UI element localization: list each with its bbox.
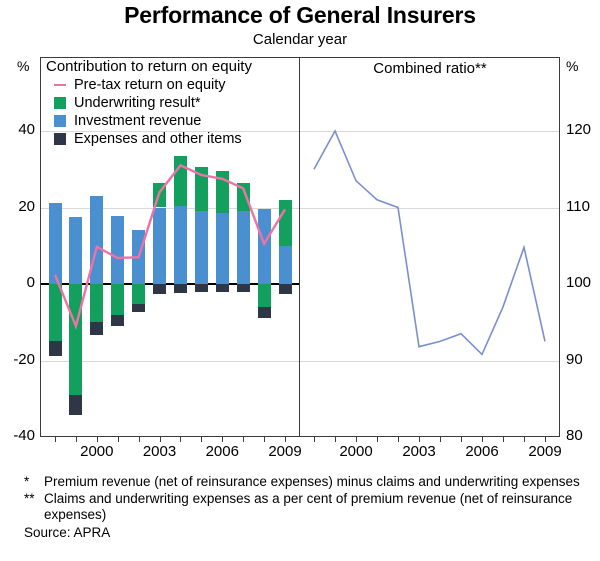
- x-axis-tick: [545, 437, 546, 442]
- bar-segment: [111, 315, 124, 326]
- right-axis-unit: %: [566, 58, 578, 74]
- bar-segment: [69, 217, 82, 284]
- bar-segment: [111, 284, 124, 315]
- x-axis-tick-label: 2006: [452, 443, 512, 460]
- bar-segment: [132, 284, 145, 304]
- chart-figure: Performance of General Insurers Calendar…: [0, 0, 600, 561]
- bar-segment: [216, 171, 229, 213]
- x-axis-tick: [97, 437, 98, 442]
- bar-segment: [174, 156, 187, 206]
- stacked-bar: [279, 57, 292, 437]
- bar-segment: [49, 203, 62, 284]
- x-axis-tick-label: 2009: [255, 443, 315, 460]
- left-axis-tick-label: -20: [0, 351, 35, 368]
- x-axis-tick-label: 2003: [130, 443, 190, 460]
- x-axis-tick-label: 2006: [192, 443, 252, 460]
- bar-segment: [132, 230, 145, 284]
- bar-segment: [153, 208, 166, 285]
- stacked-bar: [153, 57, 166, 437]
- bar-segment: [90, 284, 103, 322]
- stacked-bar: [216, 57, 229, 437]
- bar-segment: [195, 167, 208, 211]
- x-axis-tick: [377, 437, 378, 442]
- right-axis-tick-label: 120: [566, 121, 600, 138]
- x-axis-tick: [524, 437, 525, 442]
- x-axis-tick: [180, 437, 181, 442]
- bar-segment: [237, 211, 250, 284]
- x-axis-tick: [264, 437, 265, 442]
- footnote-2: ** Claims and underwriting expenses as a…: [24, 491, 584, 524]
- bar-segment: [237, 183, 250, 212]
- bar-segment: [90, 322, 103, 335]
- bar-segment: [195, 211, 208, 284]
- bar-segment: [279, 284, 292, 294]
- footnote-text: Claims and underwriting expenses as a pe…: [44, 491, 584, 524]
- gridline: [300, 208, 559, 209]
- stacked-bar: [49, 57, 62, 437]
- stacked-bar: [90, 57, 103, 437]
- x-axis-tick: [461, 437, 462, 442]
- bar-segment: [279, 200, 292, 246]
- right-axis-tick-label: 90: [566, 351, 600, 368]
- bar-segment: [49, 341, 62, 356]
- bar-segment: [69, 284, 82, 395]
- gridline: [300, 361, 559, 362]
- bar-segment: [153, 284, 166, 294]
- x-axis-tick: [222, 437, 223, 442]
- right-axis-tick-label: 100: [566, 274, 600, 291]
- bar-segment: [174, 284, 187, 293]
- bar-segment: [258, 209, 271, 284]
- bar-segment: [49, 284, 62, 341]
- stacked-bar: [237, 57, 250, 437]
- page-title: Performance of General Insurers: [0, 2, 600, 29]
- x-axis-tick: [76, 437, 77, 442]
- bar-segment: [216, 213, 229, 284]
- x-axis-tick: [419, 437, 420, 442]
- right-axis-tick-label: 110: [566, 198, 600, 215]
- stacked-bar: [132, 57, 145, 437]
- stacked-bar: [258, 57, 271, 437]
- bar-segment: [195, 284, 208, 292]
- left-axis-tick-label: 0: [0, 274, 35, 291]
- x-axis-tick: [201, 437, 202, 442]
- footnote-1: * Premium revenue (net of reinsurance ex…: [24, 474, 584, 491]
- x-axis-tick-label: 2000: [326, 443, 386, 460]
- bar-segment: [258, 284, 271, 307]
- x-axis-tick: [482, 437, 483, 442]
- x-axis-tick-label: 2000: [67, 443, 127, 460]
- bar-segment: [111, 216, 124, 284]
- source-note: Source: APRA: [24, 525, 584, 542]
- bar-segment: [237, 284, 250, 292]
- stacked-bar: [69, 57, 82, 437]
- x-axis-tick: [160, 437, 161, 442]
- x-axis-tick: [243, 437, 244, 442]
- bar-segment: [132, 304, 145, 312]
- left-axis-tick-label: 20: [0, 198, 35, 215]
- bar-segment: [90, 196, 103, 284]
- left-axis-tick-label: 40: [0, 121, 35, 138]
- bar-segment: [216, 284, 229, 292]
- bar-segment: [174, 206, 187, 284]
- right-axis-tick-label: 80: [566, 427, 600, 444]
- stacked-bar: [195, 57, 208, 437]
- stacked-bar: [111, 57, 124, 437]
- gridline: [300, 131, 559, 132]
- footnote-marker: **: [24, 491, 44, 524]
- x-axis-tick: [503, 437, 504, 442]
- x-axis-tick: [440, 437, 441, 442]
- left-axis-unit: %: [17, 58, 29, 74]
- x-axis-tick: [356, 437, 357, 442]
- x-axis-tick-label: 2009: [515, 443, 575, 460]
- left-axis-tick-label: -40: [0, 427, 35, 444]
- x-axis-tick: [139, 437, 140, 442]
- bar-segment: [153, 183, 166, 208]
- bar-segment: [279, 246, 292, 284]
- x-axis-tick: [285, 437, 286, 442]
- x-axis-tick: [118, 437, 119, 442]
- footnote-marker: *: [24, 474, 44, 491]
- stacked-bar: [174, 57, 187, 437]
- bar-segment: [258, 307, 271, 318]
- x-axis-tick: [314, 437, 315, 442]
- x-axis-tick: [335, 437, 336, 442]
- x-axis-tick-label: 2003: [389, 443, 449, 460]
- page-subtitle: Calendar year: [0, 31, 600, 48]
- x-axis-tick: [55, 437, 56, 442]
- bar-segment: [69, 395, 82, 415]
- right-panel-title: Combined ratio**: [300, 60, 560, 77]
- footnote-text: Premium revenue (net of reinsurance expe…: [44, 474, 584, 491]
- footnotes: * Premium revenue (net of reinsurance ex…: [24, 474, 584, 541]
- x-axis-tick: [398, 437, 399, 442]
